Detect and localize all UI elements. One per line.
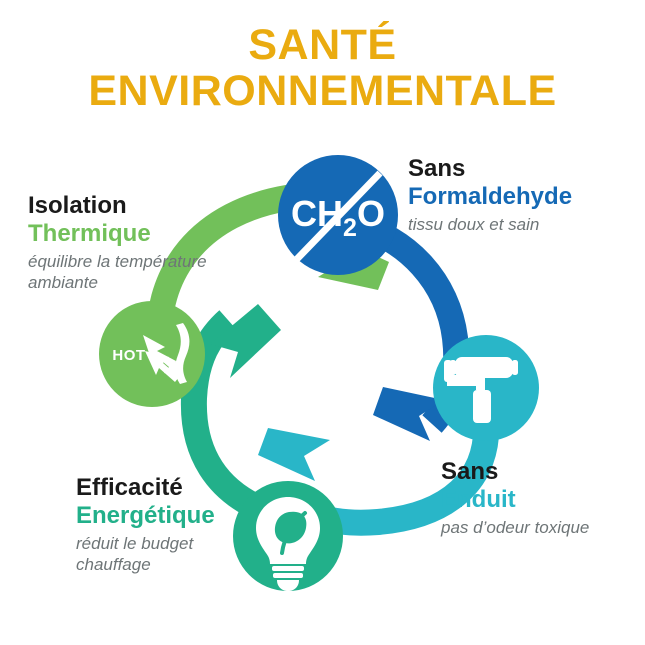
- callout-energetique-sub: Energétique: [76, 502, 236, 530]
- callout-thermique-sub: Thermique: [28, 220, 254, 248]
- callout-enduit-head: Sans: [441, 458, 589, 486]
- callout-enduit: Sans Enduit pas d’odeur toxique: [441, 458, 589, 538]
- callout-enduit-sub: Enduit: [441, 486, 589, 514]
- infographic-canvas: SANTÉ ENVIRONNEMENTALE: [0, 0, 645, 645]
- callout-formaldehyde-desc: tissu doux et sain: [408, 214, 572, 235]
- callout-formaldehyde: Sans Formaldehyde tissu doux et sain: [408, 155, 572, 235]
- callout-formaldehyde-head: Sans: [408, 155, 572, 183]
- callout-energetique-desc: réduit le budget chauffage: [76, 533, 236, 576]
- callout-thermique: Isolation Thermique équilibre la tempéra…: [28, 192, 254, 293]
- callout-thermique-head: Isolation: [28, 192, 254, 220]
- node-enduit-circle: [433, 335, 539, 441]
- callout-formaldehyde-sub: Formaldehyde: [408, 183, 572, 211]
- node-formaldehyde[interactable]: CH2O: [278, 155, 398, 275]
- node-thermique[interactable]: HOT: [99, 301, 205, 407]
- node-enduit[interactable]: [433, 335, 539, 441]
- callout-thermique-desc: équilibre la température ambiante: [28, 251, 254, 294]
- callout-enduit-desc: pas d’odeur toxique: [441, 517, 589, 538]
- hot-label: HOT: [112, 347, 145, 364]
- callout-energetique-head: Efficacité: [76, 474, 236, 502]
- callout-energetique: Efficacité Energétique réduit le budget …: [76, 474, 236, 575]
- node-energetique[interactable]: [233, 481, 343, 591]
